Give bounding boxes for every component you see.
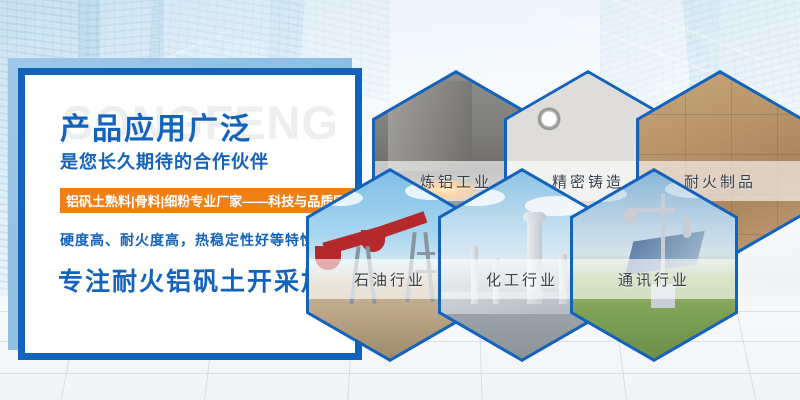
promotional-banner: SONGFENG 产品应用广泛 是您长久期待的合作伙伴 铝矾土熟料|骨料|细粉专… xyxy=(0,0,800,400)
hex-label-band: 通讯行业 xyxy=(573,259,735,298)
hex-label: 通讯行业 xyxy=(618,269,690,290)
hex-label: 耐火制品 xyxy=(684,171,756,192)
hex-label: 石油行业 xyxy=(354,269,426,290)
hex-label: 炼铝工业 xyxy=(420,171,492,192)
hex-label: 化工行业 xyxy=(486,269,558,290)
application-hexagon-grid: 炼铝工业 精密铸造 耐火制品 xyxy=(0,0,800,400)
hex-label: 精密铸造 xyxy=(552,171,624,192)
